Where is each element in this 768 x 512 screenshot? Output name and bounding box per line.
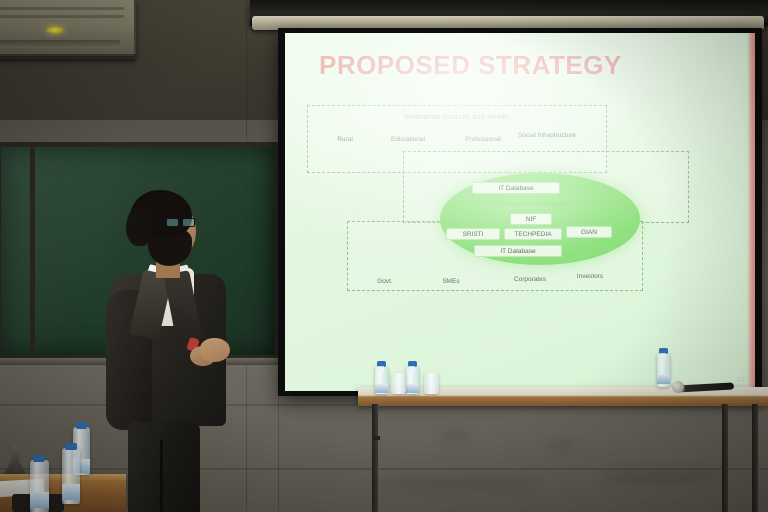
eyeglass-lens	[166, 218, 179, 227]
air-conditioner	[0, 0, 136, 59]
microphone-head	[672, 381, 684, 393]
water-bottle	[62, 448, 80, 504]
drinking-glass	[424, 373, 439, 394]
wall-stain	[600, 470, 720, 484]
eyeglasses-icon	[166, 218, 196, 228]
table-rail	[372, 436, 380, 440]
table-leg	[752, 404, 758, 512]
bottle-cap	[33, 455, 45, 462]
projector-screen: PROPOSED STRATEGY Innovation Sources and…	[285, 33, 755, 391]
bottle-label	[30, 492, 49, 508]
wall-stain	[440, 432, 470, 440]
bottle-neck	[378, 366, 384, 373]
bottle-cap	[76, 422, 87, 429]
drinking-glass	[391, 373, 406, 394]
bottle-label	[657, 375, 670, 384]
wall-stain	[548, 440, 574, 450]
ac-slat	[0, 15, 124, 18]
bottle-label	[375, 384, 388, 393]
bottle-neck	[660, 353, 666, 360]
eyeglass-lens	[182, 218, 195, 227]
presenter-hand	[200, 338, 230, 362]
presenter-trousers	[128, 422, 200, 512]
projector-glare	[285, 33, 755, 284]
ac-indicator-light	[46, 26, 64, 34]
bottle-neck	[409, 366, 415, 373]
table-leg	[372, 404, 378, 512]
bottle-cap	[65, 443, 77, 450]
ac-shadow	[0, 54, 136, 64]
wall-stain	[380, 478, 540, 490]
table-edge	[358, 398, 768, 406]
chalkboard-divider	[30, 142, 35, 360]
bottle-label	[62, 484, 80, 500]
presenter-leg-seam	[160, 440, 163, 512]
screen-right-edge-glow	[747, 33, 755, 391]
presenter	[104, 190, 230, 512]
presenter-hair	[126, 206, 152, 246]
presentation-slide: PROPOSED STRATEGY Innovation Sources and…	[285, 33, 755, 391]
table-leg	[722, 404, 728, 512]
ac-vent	[0, 40, 120, 48]
water-bottle	[30, 460, 49, 512]
bottle-label	[406, 384, 419, 393]
ac-slat	[0, 7, 124, 10]
lecture-hall-scene: PROPOSED STRATEGY Innovation Sources and…	[0, 0, 768, 512]
